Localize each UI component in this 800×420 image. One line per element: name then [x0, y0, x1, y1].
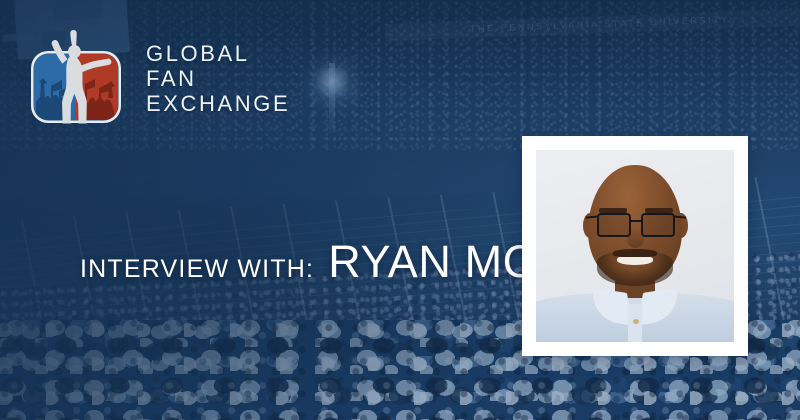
stadium-rim-banner: THE PENNSYLVANIA STATE UNIVERSITY	[385, 8, 800, 41]
portrait-glasses-bridge	[630, 220, 643, 222]
portrait-eyebrow-right	[645, 208, 673, 213]
brand-wordmark: GLOBAL FAN EXCHANGE	[146, 41, 290, 116]
stadium-banner-text: THE PENNSYLVANIA STATE UNIVERSITY	[385, 8, 800, 41]
stadium-light-tower-icon	[316, 68, 348, 98]
portrait-glasses-lens-left	[597, 213, 631, 237]
portrait-glasses-lens-right	[641, 213, 675, 237]
wordmark-line-1: GLOBAL	[146, 41, 290, 66]
interview-label: INTERVIEW WITH:	[80, 255, 314, 284]
portrait-frame	[522, 136, 748, 356]
wordmark-line-2: FAN	[146, 66, 290, 91]
portrait-shirt-button	[633, 319, 639, 324]
brand-logo-lockup: GLOBAL FAN EXCHANGE	[24, 28, 290, 128]
jumbotron-screen	[52, 0, 103, 21]
portrait-mustache	[613, 249, 657, 257]
interviewee-headshot	[536, 150, 734, 342]
wordmark-line-3: EXCHANGE	[146, 91, 290, 116]
interview-banner: THE PENNSYLVANIA STATE UNIVERSITY	[0, 0, 800, 420]
global-fan-exchange-logo-icon	[24, 28, 128, 128]
portrait-eyebrow-left	[599, 208, 627, 213]
